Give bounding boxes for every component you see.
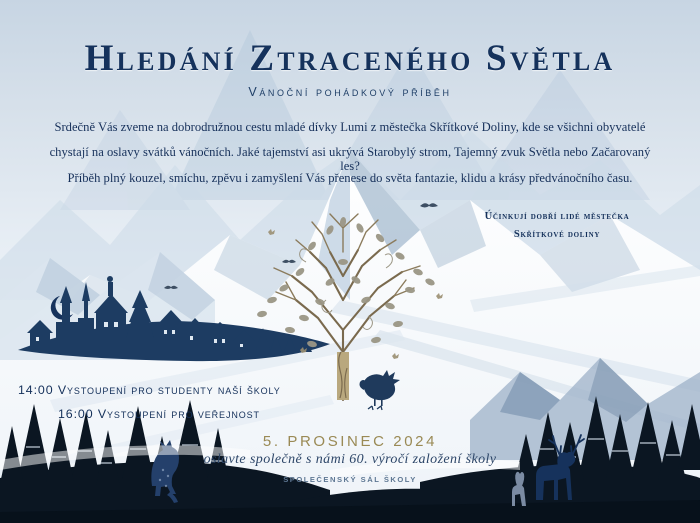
- event-date: 5. PROSINEC 2024: [0, 433, 700, 450]
- body-line-1: Srdečně Vás zveme na dobrodružnou cestu …: [40, 121, 660, 135]
- schedule-list: 14:00 Vystoupení pro studenty naší školy…: [10, 378, 330, 426]
- schedule-item-2: 16:00 Vystoupení pro veřejnost: [10, 402, 330, 426]
- page-subtitle: Vánoční pohádkový příběh: [0, 85, 700, 99]
- cast-line-2: Skřítkové doliny: [442, 226, 672, 244]
- cast-line-1: Účinkují dobří lidé městečka: [442, 208, 672, 226]
- schedule-item-1: 14:00 Vystoupení pro studenty naší školy: [10, 378, 330, 402]
- venue-label: SPOLEČENSKÝ SÁL ŠKOLY: [0, 475, 700, 484]
- body-line-2: chystají na oslavy svátků vánočních. Jak…: [40, 146, 660, 174]
- body-line-3: Příběh plný kouzel, smíchu, zpěvu i zamy…: [40, 172, 660, 186]
- poster-canvas: Hledání Ztraceného Světla Vánoční pohádk…: [0, 0, 700, 523]
- anniversary-tagline: oslavte společně s námi 60. výročí založ…: [0, 452, 700, 468]
- page-title: Hledání Ztraceného Světla: [0, 37, 700, 80]
- cast-credits: Účinkují dobří lidé městečka Skřítkové d…: [442, 208, 672, 245]
